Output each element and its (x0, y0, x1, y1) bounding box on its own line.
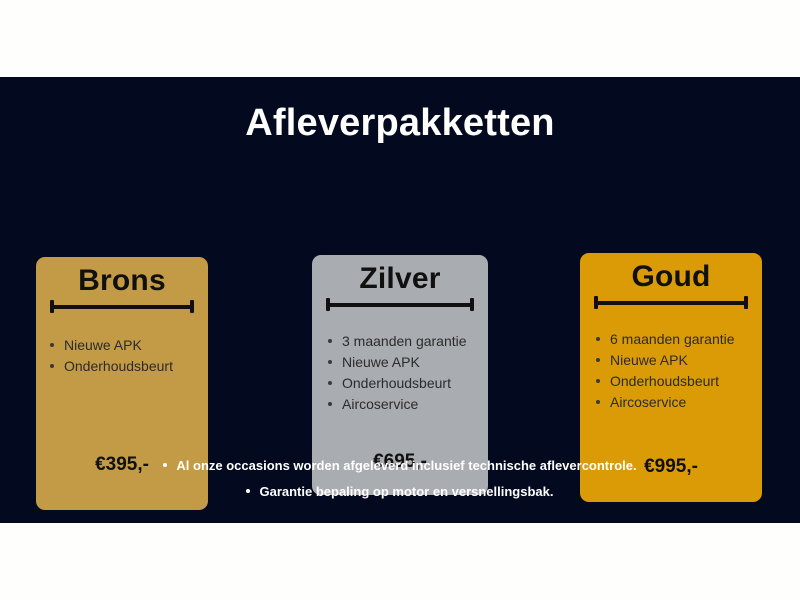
letterbox-top (0, 0, 800, 77)
list-item: Nieuwe APK (46, 335, 208, 355)
package-name: Zilver (312, 255, 488, 296)
divider-bar (50, 305, 194, 309)
list-item: Nieuwe APK (592, 350, 762, 370)
list-item: Onderhoudsbeurt (324, 373, 488, 393)
page-title: Afleverpakketten (0, 101, 800, 145)
footer-note: Al onze occasions worden afgeleverd incl… (0, 453, 800, 479)
list-item: Onderhoudsbeurt (46, 356, 208, 376)
dimension-line-divider-icon (50, 300, 194, 313)
package-feature-list: 3 maanden garantie Nieuwe APK Onderhouds… (324, 331, 488, 414)
list-item: Aircoservice (324, 394, 488, 414)
footer-notes: Al onze occasions worden afgeleverd incl… (0, 453, 800, 505)
slide-background: Afleverpakketten Brons Nieuwe APK Onderh… (0, 77, 800, 523)
bullet-icon (246, 489, 250, 493)
divider-cap-right (470, 298, 474, 311)
slide-canvas: Afleverpakketten Brons Nieuwe APK Onderh… (0, 0, 800, 600)
bullet-icon (163, 463, 167, 467)
divider-cap-right (190, 300, 194, 313)
letterbox-bottom (0, 523, 800, 600)
list-item: Nieuwe APK (324, 352, 488, 372)
divider-bar (594, 301, 748, 305)
list-item: Onderhoudsbeurt (592, 371, 762, 391)
footer-note-text: Al onze occasions worden afgeleverd incl… (176, 458, 636, 473)
package-name: Brons (36, 257, 208, 298)
footer-note: Garantie bepaling op motor en versnellin… (0, 479, 800, 505)
package-name: Goud (580, 253, 762, 294)
list-item: Aircoservice (592, 392, 762, 412)
package-feature-list: Nieuwe APK Onderhoudsbeurt (46, 335, 208, 376)
package-feature-list: 6 maanden garantie Nieuwe APK Onderhouds… (592, 329, 762, 412)
dimension-line-divider-icon (594, 296, 748, 309)
divider-bar (326, 303, 474, 307)
dimension-line-divider-icon (326, 298, 474, 311)
list-item: 3 maanden garantie (324, 331, 488, 351)
divider-cap-right (744, 296, 748, 309)
footer-note-text: Garantie bepaling op motor en versnellin… (259, 484, 553, 499)
list-item: 6 maanden garantie (592, 329, 762, 349)
